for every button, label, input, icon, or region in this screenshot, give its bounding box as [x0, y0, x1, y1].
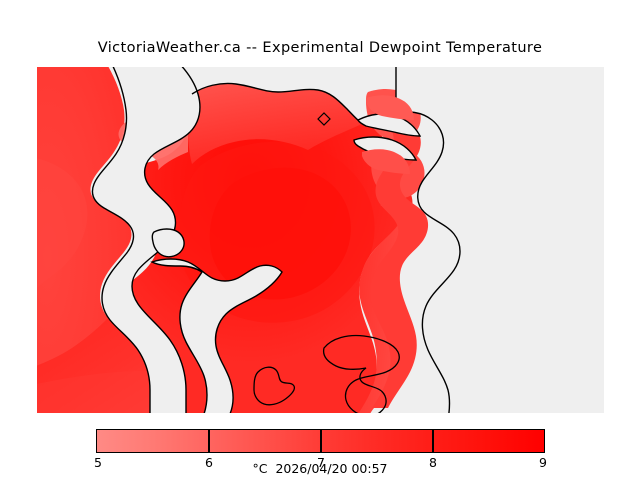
weather-map-page: VictoriaWeather.ca -- Experimental Dewpo…	[0, 0, 640, 480]
colorbar-tick-8	[432, 429, 434, 453]
page-title: VictoriaWeather.ca -- Experimental Dewpo…	[0, 40, 640, 56]
map-panel[interactable]	[36, 66, 605, 414]
colorbar-tick-6	[208, 429, 210, 453]
dewpoint-contour-map[interactable]	[36, 66, 605, 414]
colorbar-tick-7	[320, 429, 322, 453]
colorbar[interactable]	[96, 429, 545, 453]
colorbar-units-timestamp: °C 2026/04/20 00:57	[0, 461, 640, 476]
